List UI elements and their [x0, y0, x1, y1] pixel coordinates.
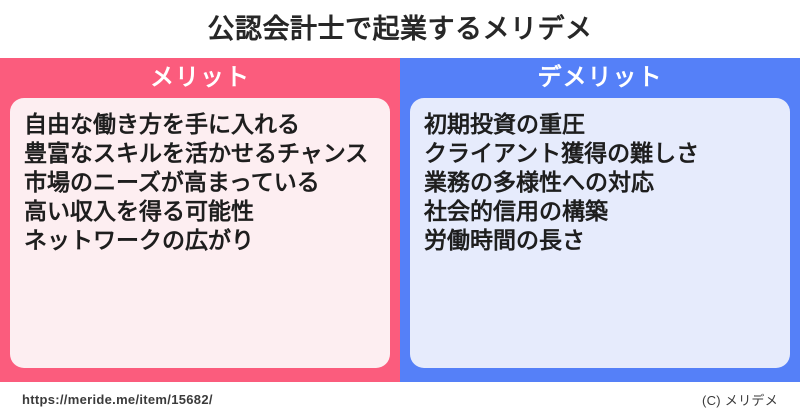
merit-heading: メリット: [10, 58, 390, 98]
demerit-heading: デメリット: [410, 58, 790, 98]
list-item: ネットワークの広がり: [24, 226, 376, 255]
list-item: クライアント獲得の難しさ: [424, 139, 776, 168]
merit-panel: メリット 自由な働き方を手に入れる 豊富なスキルを活かせるチャンス 市場のニーズ…: [0, 58, 400, 382]
list-item: 初期投資の重圧: [424, 110, 776, 139]
title-bar: 公認会計士で起業するメリデメ: [0, 0, 800, 58]
comparison-slide: 公認会計士で起業するメリデメ メリット 自由な働き方を手に入れる 豊富なスキルを…: [0, 0, 800, 418]
demerit-panel: デメリット 初期投資の重圧 クライアント獲得の難しさ 業務の多様性への対応 社会…: [400, 58, 800, 382]
list-item: 労働時間の長さ: [424, 226, 776, 255]
copyright-notice: (C) メリデメ: [702, 390, 778, 409]
merit-item-list: 自由な働き方を手に入れる 豊富なスキルを活かせるチャンス 市場のニーズが高まって…: [24, 110, 376, 255]
demerit-item-list: 初期投資の重圧 クライアント獲得の難しさ 業務の多様性への対応 社会的信用の構築…: [424, 110, 776, 255]
list-item: 高い収入を得る可能性: [24, 197, 376, 226]
footer: https://meride.me/item/15682/ (C) メリデメ: [0, 382, 800, 418]
merit-card: 自由な働き方を手に入れる 豊富なスキルを活かせるチャンス 市場のニーズが高まって…: [10, 98, 390, 368]
panels-container: メリット 自由な働き方を手に入れる 豊富なスキルを活かせるチャンス 市場のニーズ…: [0, 58, 800, 382]
source-url[interactable]: https://meride.me/item/15682/: [22, 392, 213, 407]
list-item: 自由な働き方を手に入れる: [24, 110, 376, 139]
list-item: 豊富なスキルを活かせるチャンス: [24, 139, 376, 168]
demerit-card: 初期投資の重圧 クライアント獲得の難しさ 業務の多様性への対応 社会的信用の構築…: [410, 98, 790, 368]
list-item: 業務の多様性への対応: [424, 168, 776, 197]
page-title: 公認会計士で起業するメリデメ: [208, 16, 593, 43]
list-item: 市場のニーズが高まっている: [24, 168, 376, 197]
list-item: 社会的信用の構築: [424, 197, 776, 226]
